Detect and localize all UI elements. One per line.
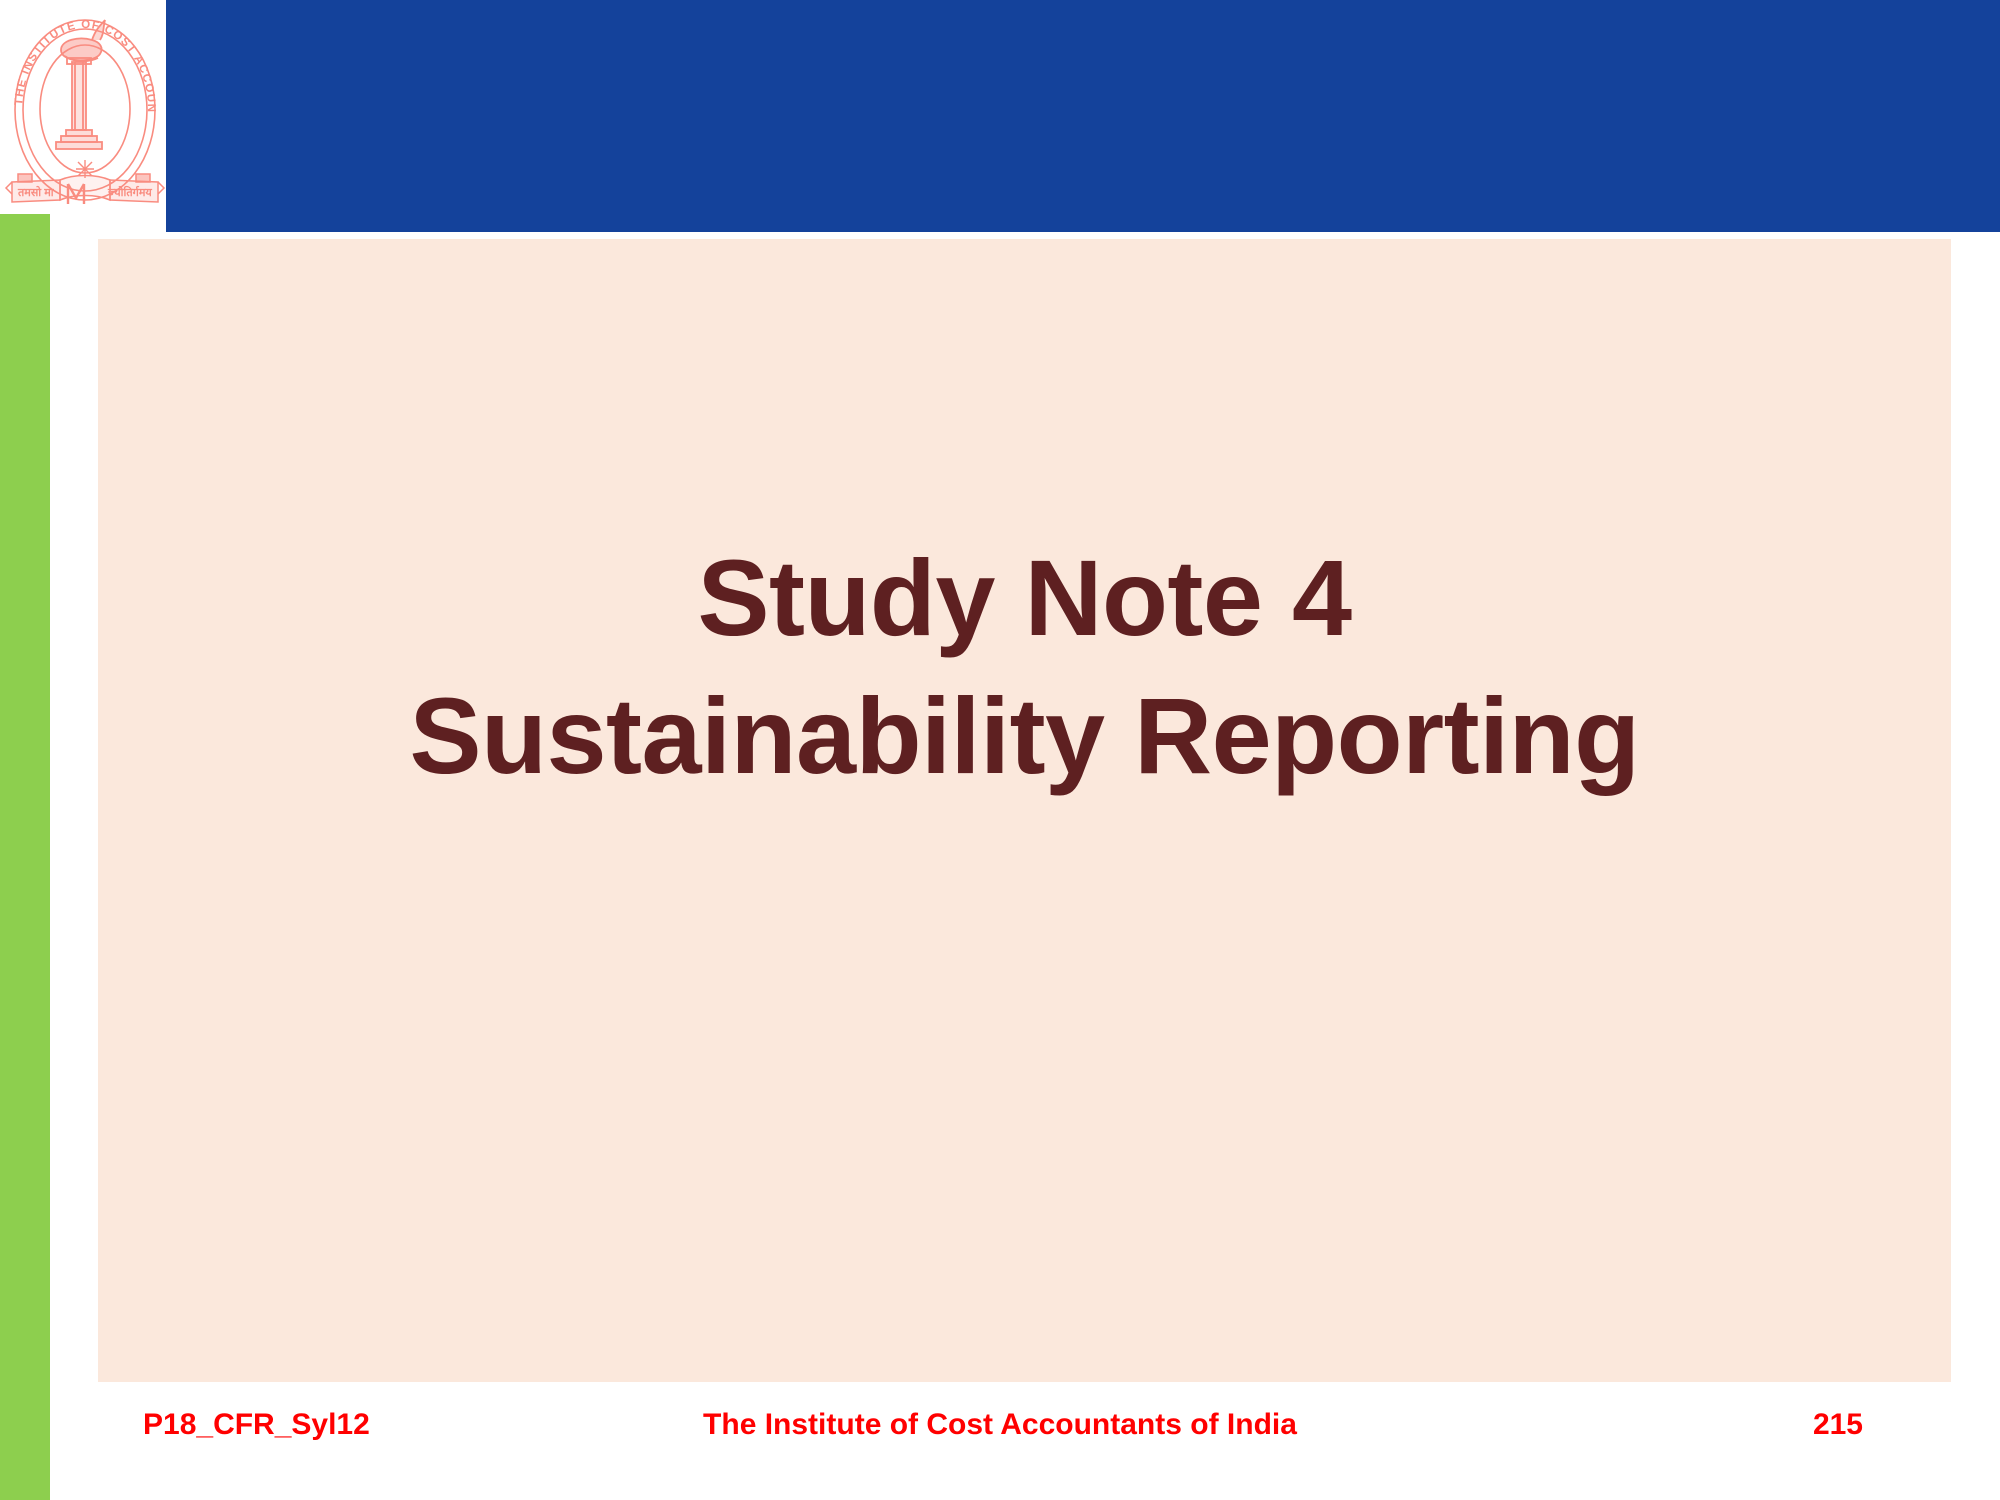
- left-green-accent-bar: [0, 214, 50, 1500]
- svg-text:ज्योतिर्गमय: ज्योतिर्गमय: [107, 185, 152, 199]
- slide-title: Study Note 4 Sustainability Reporting: [98, 529, 1951, 805]
- slide-content-panel: Study Note 4 Sustainability Reporting: [98, 239, 1951, 1382]
- institute-logo: THE INSTITUTE OF COST ACCOUNTANTS OF IND…: [4, 2, 166, 214]
- footer-institute-name: The Institute of Cost Accountants of Ind…: [0, 1408, 2000, 1442]
- footer-page-number: 215: [1813, 1408, 1863, 1442]
- svg-text:तमसो मा: तमसो मा: [17, 185, 55, 199]
- slide-title-line-2: Sustainability Reporting: [98, 667, 1951, 805]
- slide-title-line-1: Study Note 4: [98, 529, 1951, 667]
- header-blue-band: [166, 0, 2000, 232]
- slide-footer: P18_CFR_Syl12 The Institute of Cost Acco…: [0, 1398, 2000, 1460]
